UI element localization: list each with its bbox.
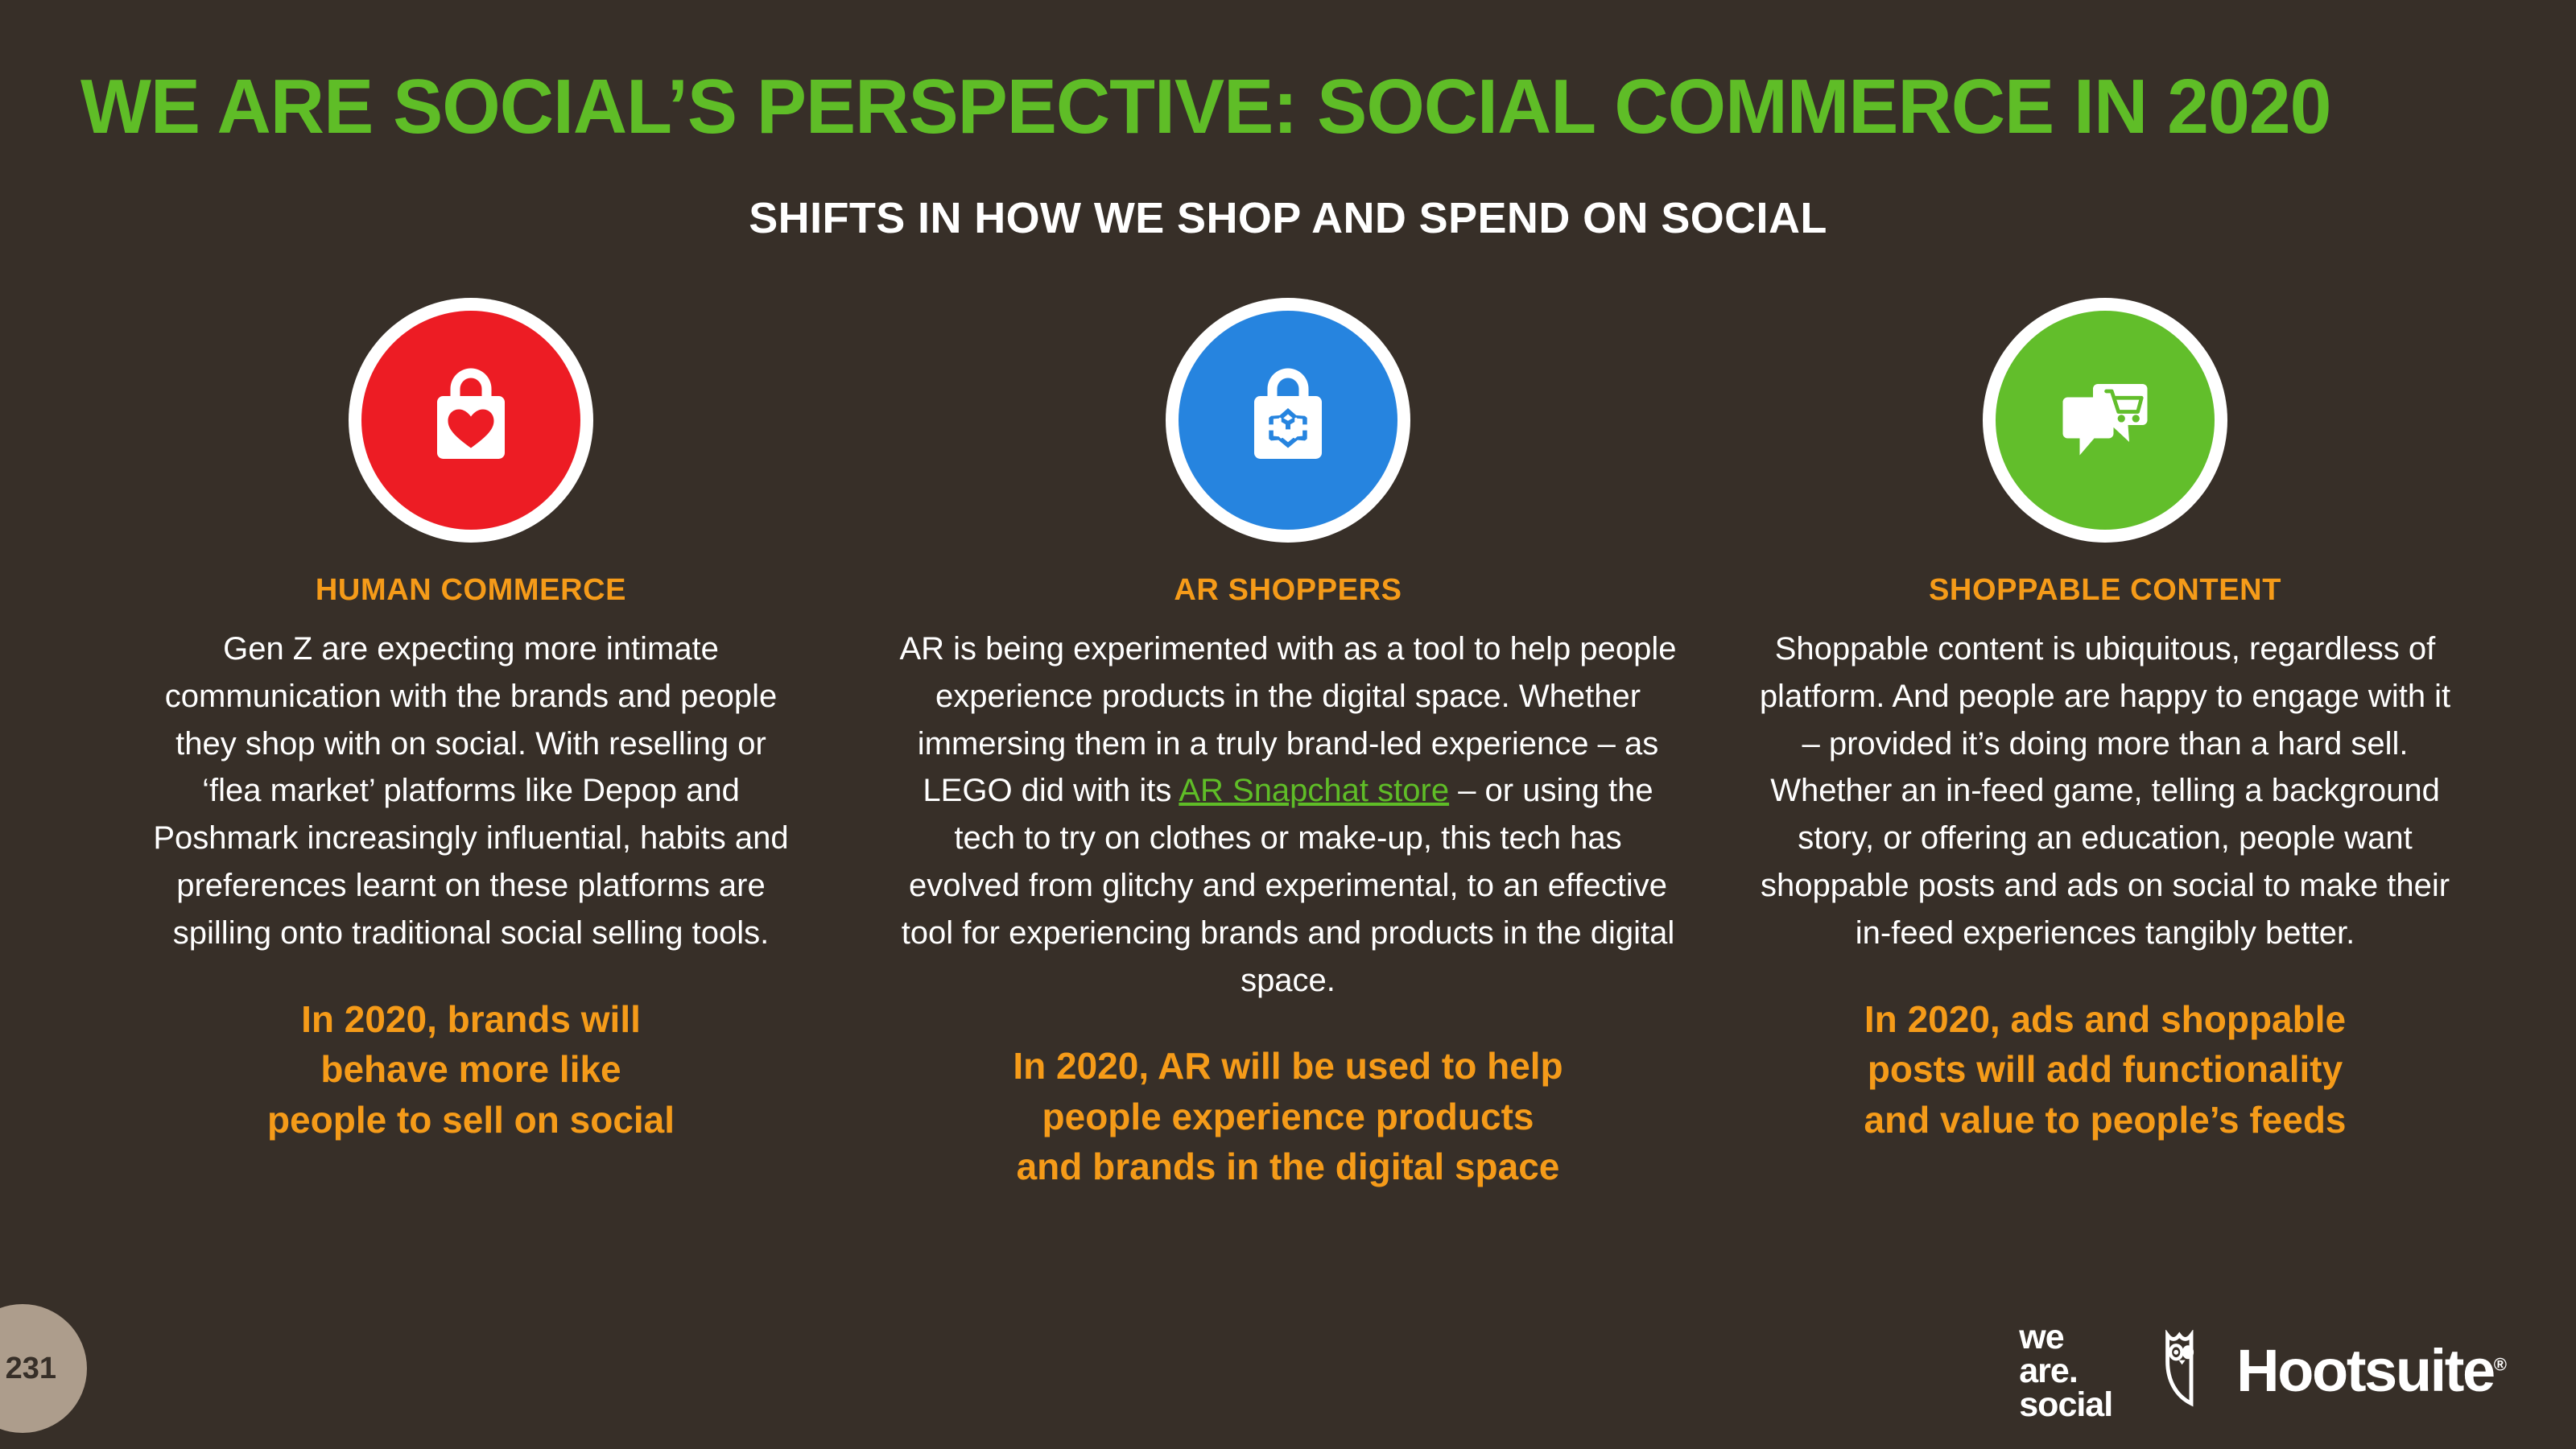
icon-ring-ar-shoppers bbox=[1166, 298, 1410, 543]
column-body-text: Gen Z are expecting more intimate commun… bbox=[149, 625, 793, 957]
page-subtitle: SHIFTS IN HOW WE SHOP AND SPEND ON SOCIA… bbox=[0, 193, 2576, 243]
column-ar-shoppers: AR SHOPPERS AR is being experimented wit… bbox=[902, 298, 1674, 1264]
column-body-text: AR is being experimented with as a tool … bbox=[898, 625, 1678, 1004]
footer-logos: we are. social Hootsuite® bbox=[2019, 1320, 2507, 1422]
column-shoppable-content: SHOPPABLE CONTENT Shoppable content is u… bbox=[1719, 298, 2491, 1264]
column-heading: HUMAN COMMERCE bbox=[316, 573, 626, 608]
we-are-social-logo: we are. social bbox=[2019, 1320, 2112, 1422]
column-body-text: Shoppable content is ubiquitous, regardl… bbox=[1759, 625, 2451, 957]
shopping-bag-ar-cube-icon bbox=[1179, 311, 1397, 530]
we-are-social-line-2: are. bbox=[2019, 1354, 2112, 1388]
columns-container: HUMAN COMMERCE Gen Z are expecting more … bbox=[0, 298, 2576, 1264]
column-heading: SHOPPABLE CONTENT bbox=[1929, 573, 2281, 608]
shopping-bag-heart-icon bbox=[361, 311, 580, 530]
hootsuite-registered-mark: ® bbox=[2494, 1355, 2507, 1375]
speech-bubbles-shopping-cart-icon bbox=[1996, 311, 2215, 530]
hootsuite-wordmark: Hootsuite® bbox=[2236, 1341, 2507, 1401]
column-conclusion: In 2020, ads and shoppable posts will ad… bbox=[1783, 994, 2427, 1146]
hootsuite-owl-icon bbox=[2162, 1330, 2220, 1413]
hootsuite-logo: Hootsuite® bbox=[2162, 1330, 2507, 1413]
column-conclusion: In 2020, brands will behave more like pe… bbox=[189, 994, 753, 1146]
column-heading: AR SHOPPERS bbox=[1174, 573, 1402, 608]
we-are-social-line-3: social bbox=[2019, 1388, 2112, 1422]
icon-ring-human-commerce bbox=[349, 298, 593, 543]
hootsuite-word-text: Hootsuite bbox=[2236, 1337, 2494, 1404]
page-number-badge: 231 bbox=[0, 1304, 87, 1433]
ar-snapchat-store-link[interactable]: AR Snapchat store bbox=[1179, 773, 1449, 808]
column-human-commerce: HUMAN COMMERCE Gen Z are expecting more … bbox=[85, 298, 857, 1264]
column-conclusion: In 2020, AR will be used to help people … bbox=[938, 1041, 1638, 1192]
we-are-social-line-1: we bbox=[2019, 1320, 2112, 1354]
page-title: WE ARE SOCIAL’S PERSPECTIVE: SOCIAL COMM… bbox=[80, 68, 2423, 147]
icon-ring-shoppable-content bbox=[1983, 298, 2227, 543]
